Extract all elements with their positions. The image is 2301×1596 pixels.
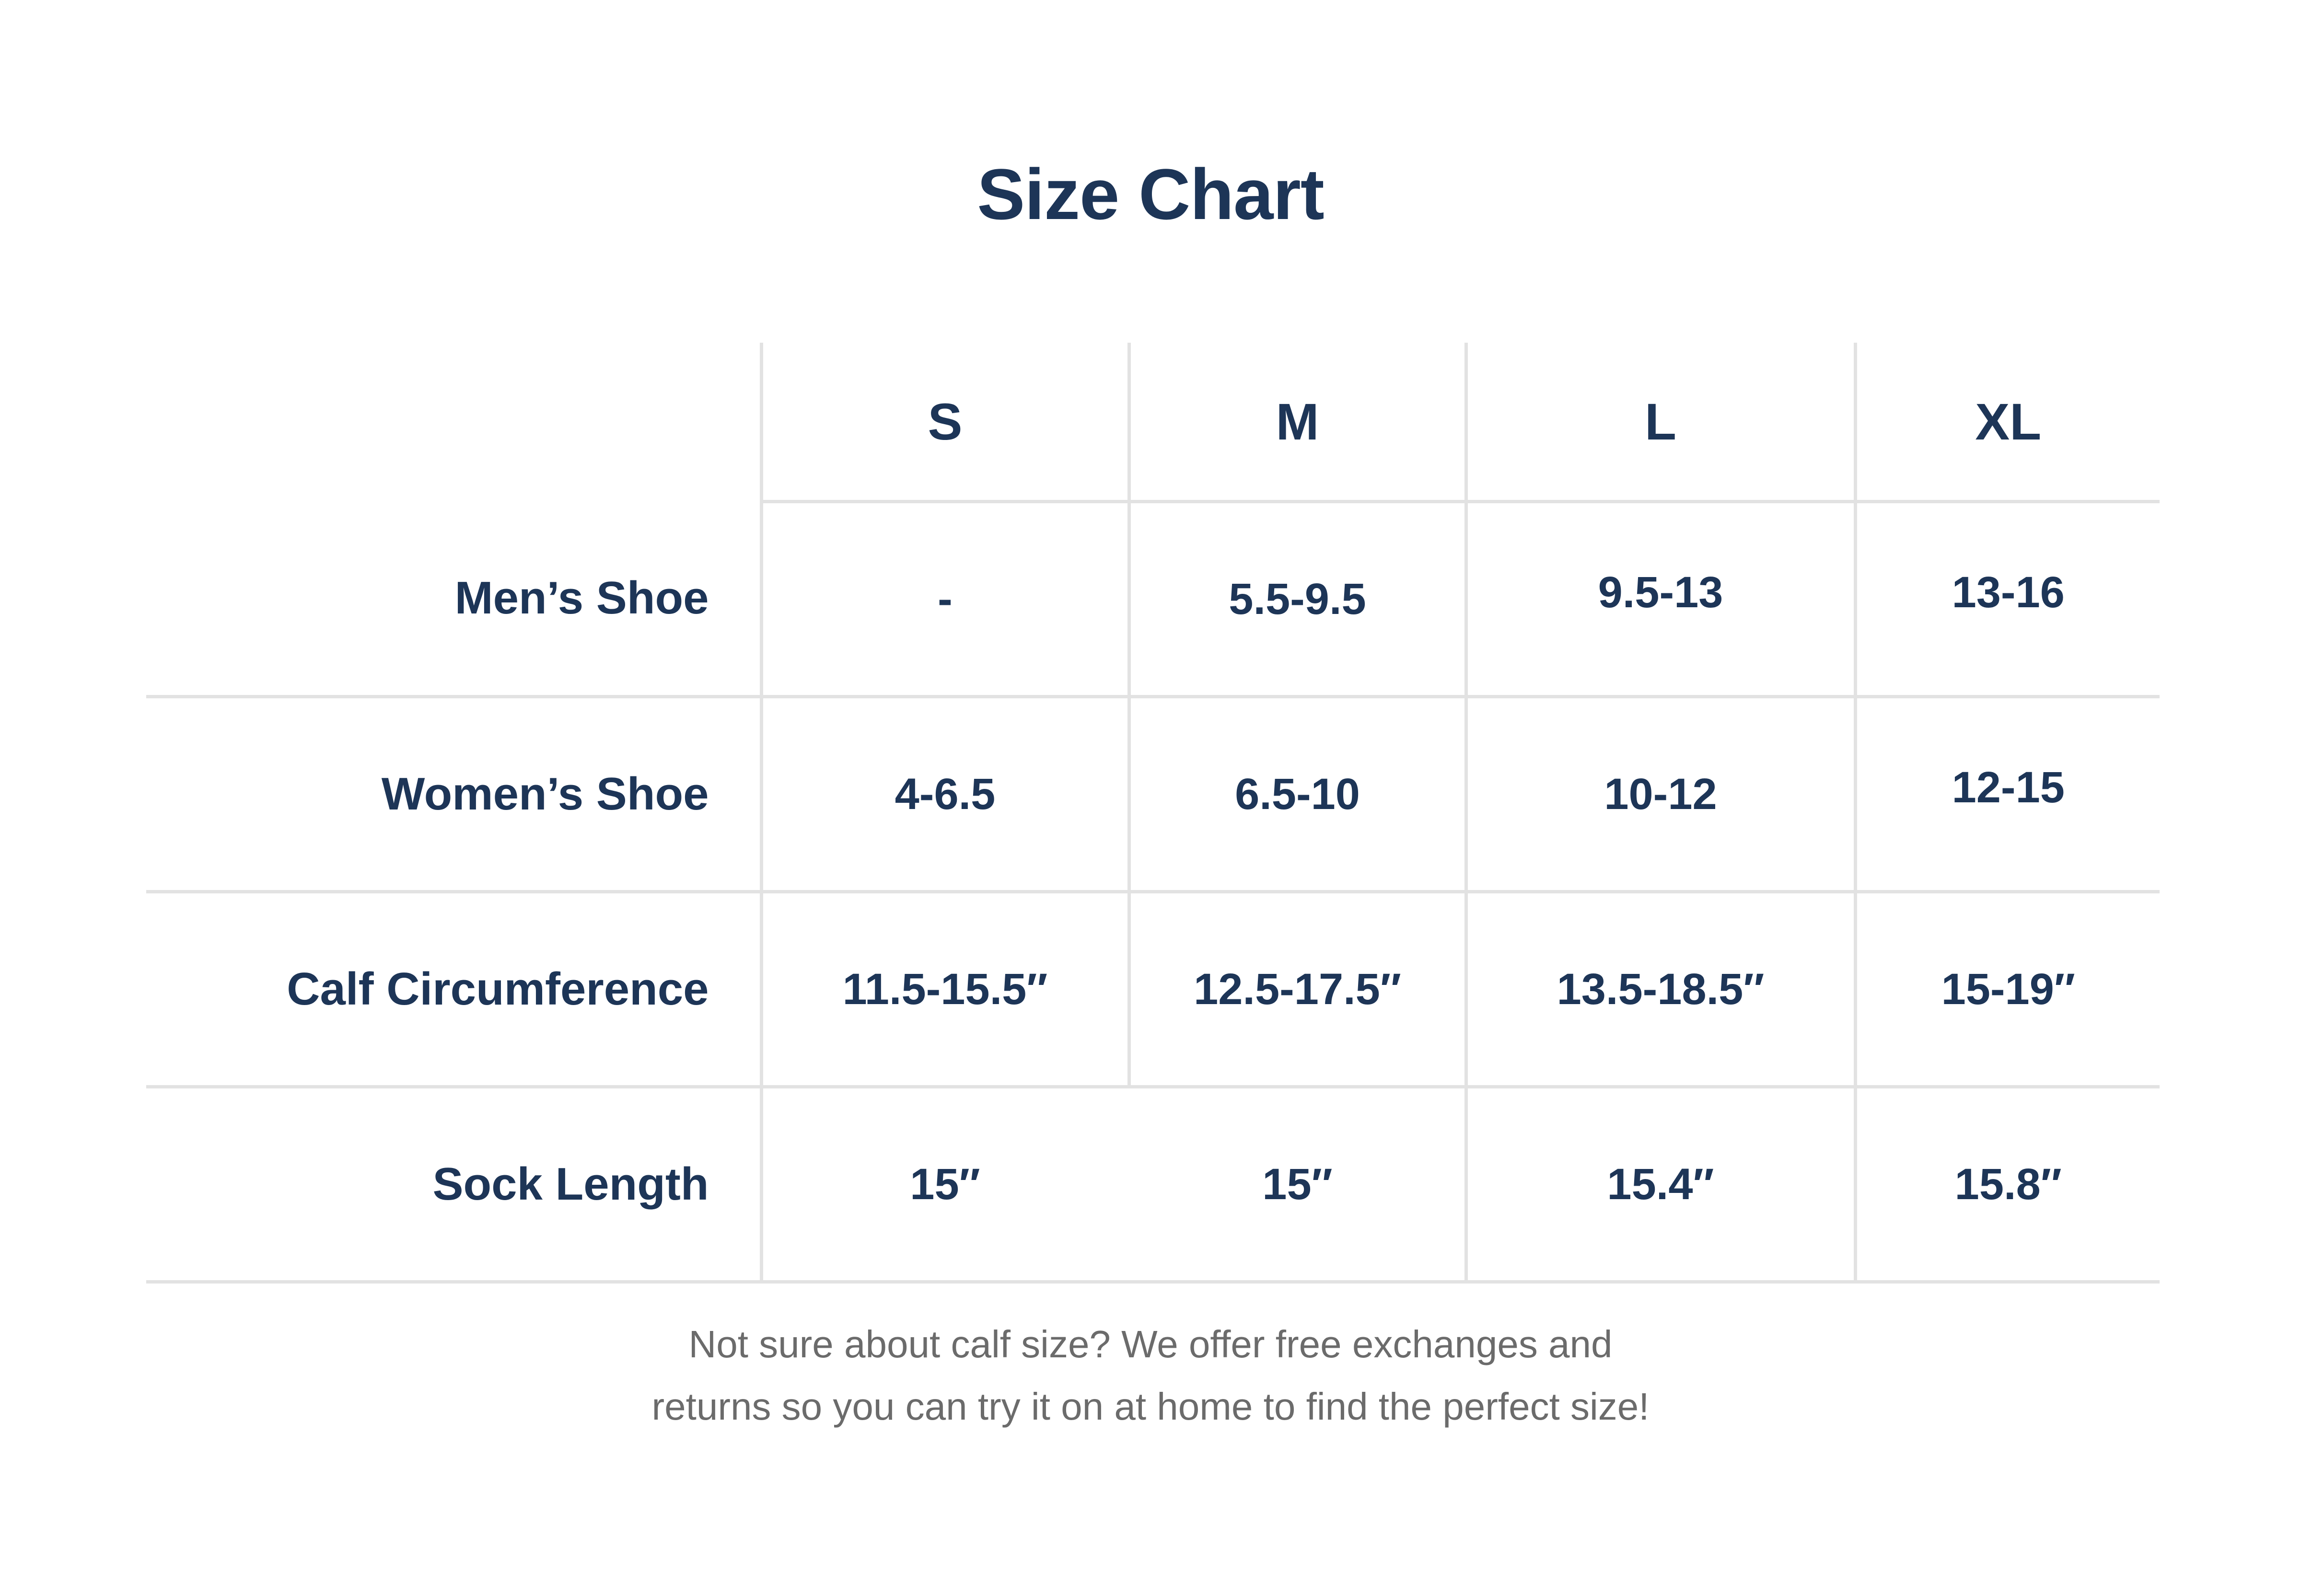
cell-value: 15.4″ [1607, 1159, 1714, 1210]
table-header-row: S M L XL [146, 343, 2160, 502]
cell-womens-shoe-xl: 12-15 [1855, 697, 2160, 892]
header-corner-cell [146, 343, 761, 502]
size-chart-table: S M L XL Men’s Shoe - 5.5-9.5 9.5-1 [146, 343, 2160, 1284]
cell-calf-circumference-xl: 15-19″ [1855, 892, 2160, 1087]
cell-mens-shoe-s: - [761, 502, 1129, 697]
cell-sock-length-l: 15.4″ [1466, 1087, 1855, 1282]
cell-value: 12.5-17.5″ [1194, 964, 1401, 1015]
cell-womens-shoe-m: 6.5-10 [1129, 697, 1466, 892]
cell-calf-circumference-m: 12.5-17.5″ [1129, 892, 1466, 1087]
cell-calf-circumference-s: 11.5-15.5″ [761, 892, 1129, 1087]
cell-value: 6.5-10 [1235, 769, 1360, 820]
column-header-s: S [761, 343, 1129, 502]
size-chart-table-container: S M L XL Men’s Shoe - 5.5-9.5 9.5-1 [146, 343, 2160, 1284]
table-header: S M L XL [146, 343, 2160, 502]
cell-womens-shoe-s: 4-6.5 [761, 697, 1129, 892]
cell-value: 9.5-13 [1598, 567, 1723, 618]
cell-value: 11.5-15.5″ [843, 964, 1048, 1015]
table-row: Sock Length 15″ 15″ 15.4″ 15.8″ [146, 1087, 2160, 1282]
cell-womens-shoe-l: 10-12 [1466, 697, 1855, 892]
cell-value: 15″ [1262, 1159, 1332, 1210]
size-chart-page: Size Chart S M L XL [0, 0, 2301, 1596]
cell-value: 15″ [910, 1159, 980, 1210]
cell-value: 12-15 [1952, 763, 2065, 813]
footer-note: Not sure about calf size? We offer free … [0, 1313, 2301, 1437]
row-label-calf-circumference: Calf Circumference [146, 892, 761, 1087]
cell-value: 5.5-9.5 [1229, 574, 1366, 625]
footer-note-line-2: returns so you can try it on at home to … [0, 1376, 2301, 1438]
row-label-mens-shoe: Men’s Shoe [146, 502, 761, 697]
row-label-sock-length: Sock Length [146, 1087, 761, 1282]
column-header-xl: XL [1855, 343, 2160, 502]
cell-sock-length-s: 15″ [761, 1087, 1129, 1282]
cell-value: 15.8″ [1955, 1159, 2062, 1210]
table-row: Men’s Shoe - 5.5-9.5 9.5-13 13-16 [146, 502, 2160, 697]
column-header-m: M [1129, 343, 1466, 502]
cell-mens-shoe-xl: 13-16 [1855, 502, 2160, 697]
table-row: Calf Circumference 11.5-15.5″ 12.5-17.5″… [146, 892, 2160, 1087]
cell-value: - [938, 574, 953, 625]
cell-value: 13-16 [1952, 567, 2065, 618]
cell-value: 15-19″ [1941, 964, 2075, 1015]
cell-mens-shoe-l: 9.5-13 [1466, 502, 1855, 697]
cell-calf-circumference-l: 13.5-18.5″ [1466, 892, 1855, 1087]
page-title: Size Chart [0, 158, 2301, 230]
cell-value: 4-6.5 [895, 769, 996, 820]
row-label-womens-shoe: Women’s Shoe [146, 697, 761, 892]
cell-value: 13.5-18.5″ [1557, 964, 1765, 1015]
table-body: Men’s Shoe - 5.5-9.5 9.5-13 13-16 W [146, 502, 2160, 1282]
cell-value: 10-12 [1604, 769, 1717, 820]
table-row: Women’s Shoe 4-6.5 6.5-10 10-12 12-15 [146, 697, 2160, 892]
cell-sock-length-xl: 15.8″ [1855, 1087, 2160, 1282]
cell-mens-shoe-m: 5.5-9.5 [1129, 502, 1466, 697]
cell-sock-length-m: 15″ [1129, 1087, 1466, 1282]
footer-note-line-1: Not sure about calf size? We offer free … [0, 1313, 2301, 1376]
column-header-l: L [1466, 343, 1855, 502]
